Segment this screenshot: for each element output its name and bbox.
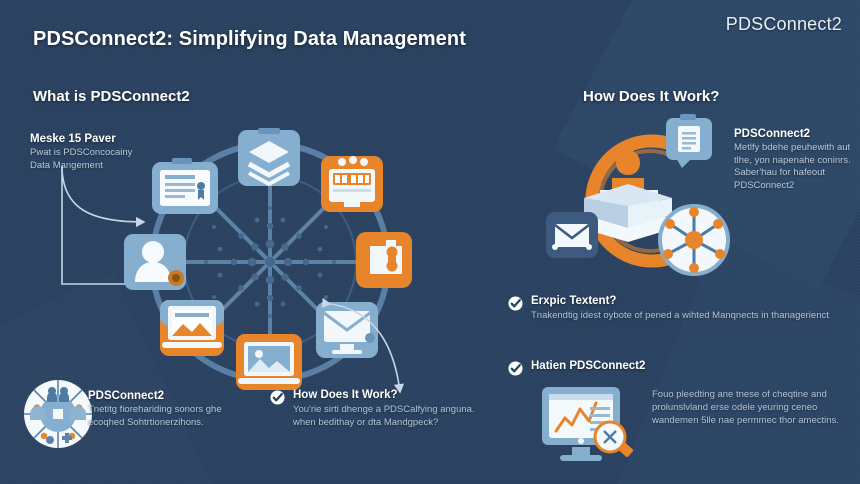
wheel-node-settings[interactable] <box>356 232 412 288</box>
checklist-item-1[interactable]: Erxpic Textent? Tnakendtig idest oybote … <box>508 295 848 323</box>
blurb-hub-title: PDSConnect2 <box>734 128 856 140</box>
check-badge-icon <box>508 361 523 376</box>
blurb-bottom-left-body: Tnetitg fiorehariding sonors ghe ecoqhed… <box>88 404 228 429</box>
section-heading-left: What is PDSConnect2 <box>33 88 190 105</box>
wheel-node-dashboard[interactable] <box>321 156 383 212</box>
checklist-item-2-text: Fouo pleedting ane tnese of cheqtine and… <box>652 388 852 427</box>
document-bubble-icon[interactable] <box>666 114 712 168</box>
checklist-item-2-body: Hatien PDSConnect2 <box>531 360 645 376</box>
how-it-works-illustration <box>540 112 732 290</box>
checklist-item-middle-title: How Does It Work? <box>293 389 475 401</box>
wheel-node-document[interactable] <box>152 158 218 214</box>
wheel-node-image[interactable] <box>236 334 302 390</box>
checklist-item-2-title: Hatien PDSConnect2 <box>531 360 645 372</box>
wheel-node-user[interactable] <box>124 234 186 290</box>
checklist-item-middle-body: How Does It Work? You'rie sirti dhenge a… <box>293 389 475 430</box>
checklist-item-2[interactable]: Hatien PDSConnect2 <box>508 360 848 376</box>
wheel-node-upload[interactable] <box>238 128 300 186</box>
blurb-hub: PDSConnect2 Metlfy bdehe peuhewith aut t… <box>734 128 856 192</box>
section-heading-right: How Does It Work? <box>583 88 719 105</box>
checklist-item-1-text: Tnakendtig idest oybote of pened a wihte… <box>531 310 829 323</box>
blurb-hub-body: Metlfy bdehe peuhewith aut tlhe, yon nap… <box>734 142 856 192</box>
page-title: PDSConnect2: Simplifying Data Management <box>33 28 466 51</box>
checklist-item-middle-text: You'rie sirti dhenge a PDSCalfying angun… <box>293 404 475 430</box>
blurb-bottom-left: PDSConnect2 Tnetitg fiorehariding sonors… <box>88 390 228 429</box>
check-badge-icon <box>508 296 523 311</box>
checklist-item-middle[interactable]: How Does It Work? You'rie sirti dhenge a… <box>270 389 500 430</box>
blurb-bottom-left-title: PDSConnect2 <box>88 390 228 402</box>
analytics-monitor-icon <box>536 385 644 467</box>
checklist-item-1-title: Erxpic Textent? <box>531 295 829 307</box>
network-hub-icon[interactable] <box>660 206 728 274</box>
wheel-node-laptop[interactable] <box>160 300 224 356</box>
envelope-icon[interactable] <box>546 212 598 258</box>
brand-logo-text: PDSConnect2 <box>726 14 842 35</box>
collaboration-network-icon <box>22 378 94 450</box>
checklist-item-1-body: Erxpic Textent? Tnakendtig idest oybote … <box>531 295 829 323</box>
check-badge-icon <box>270 390 285 405</box>
infographic-canvas: PDSConnect2 PDSConnect2: Simplifying Dat… <box>0 0 860 484</box>
